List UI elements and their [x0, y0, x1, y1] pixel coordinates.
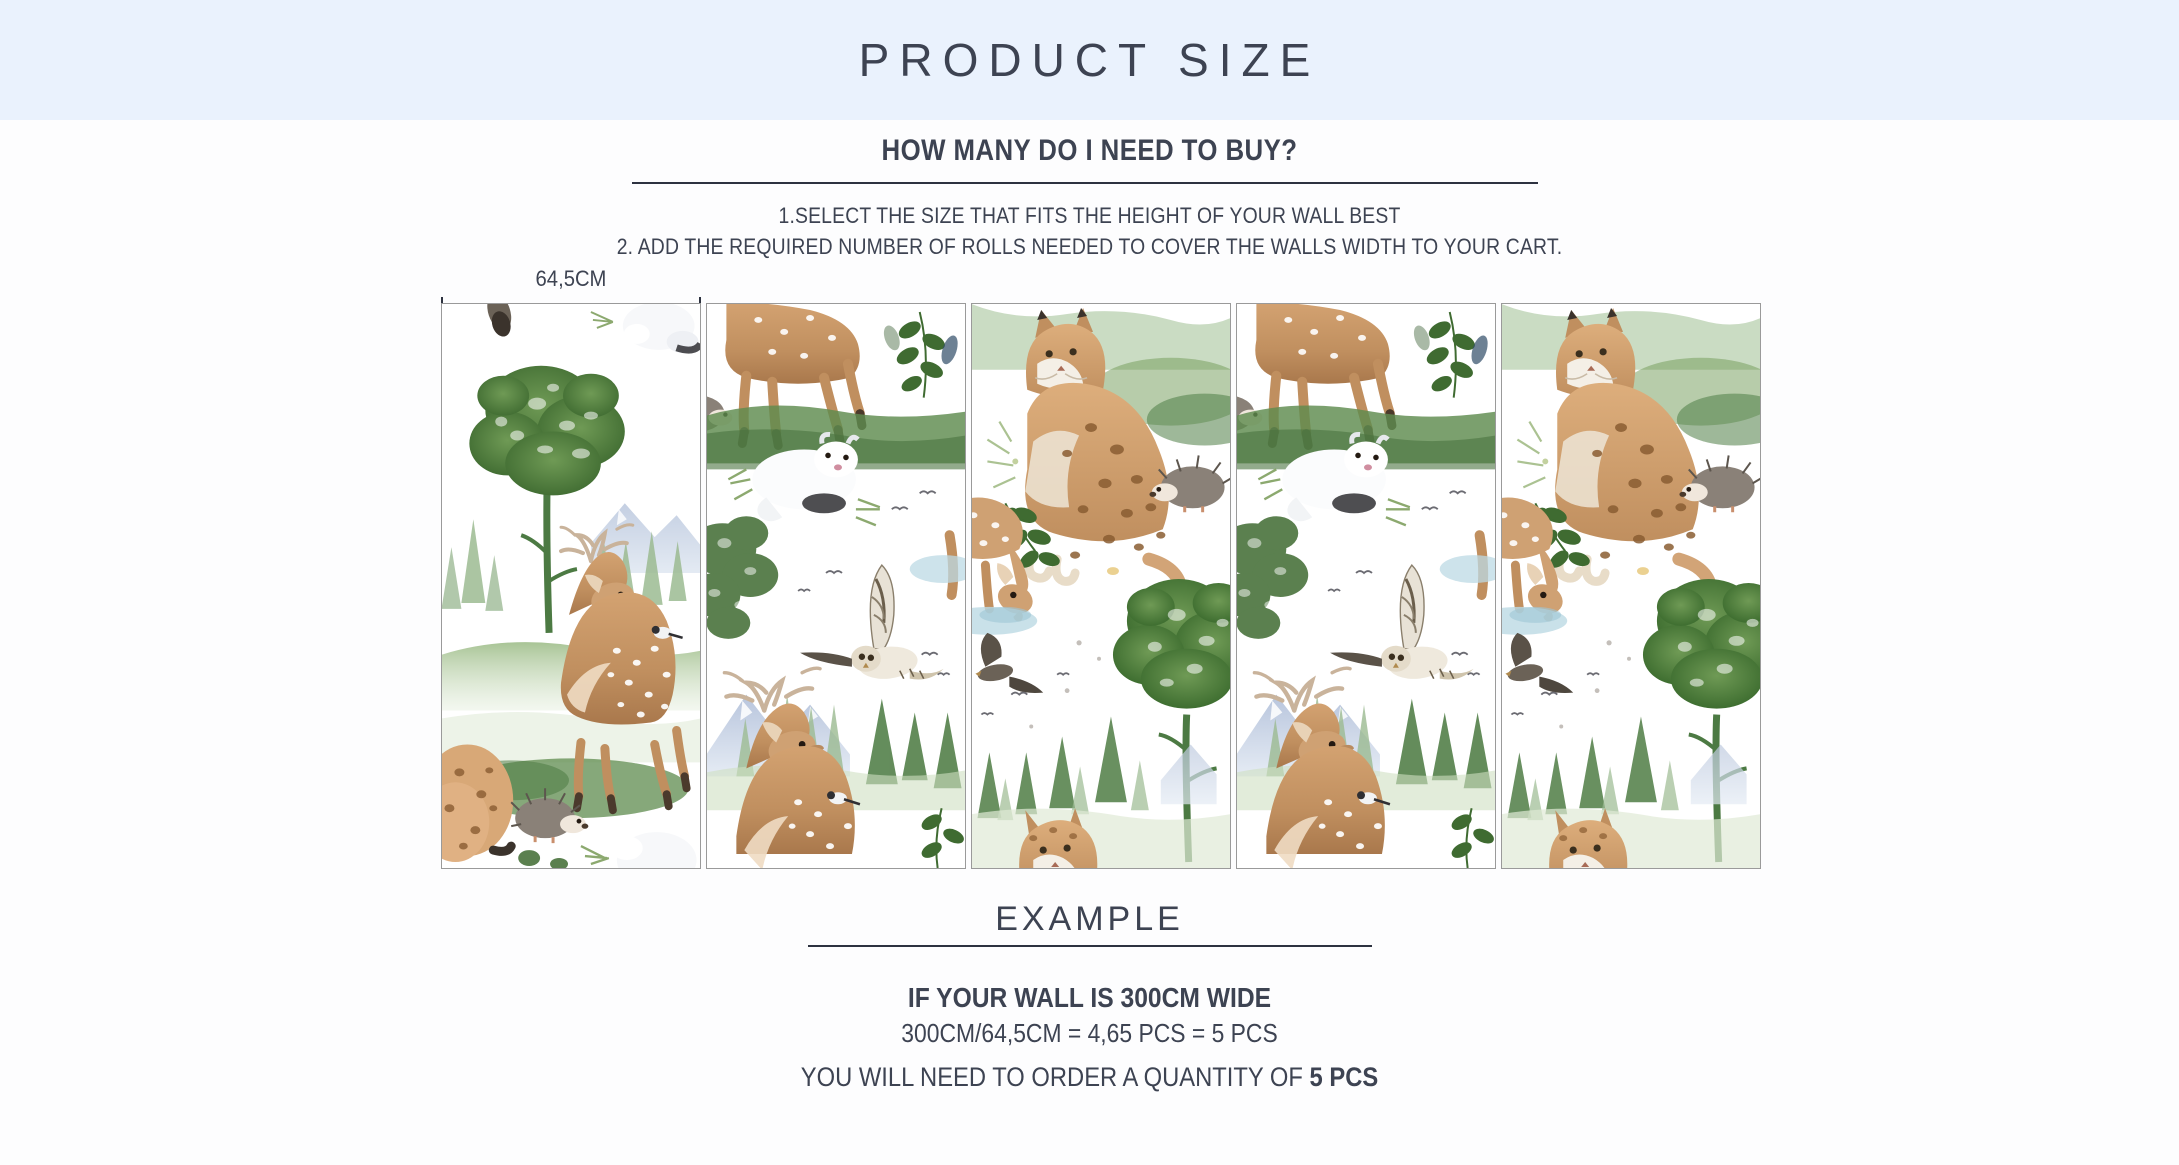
example-line-wall-width: IF YOUR WALL IS 300CM WIDE: [131, 982, 2049, 1014]
divider-example: [808, 945, 1372, 947]
wallpaper-pattern-b: [707, 304, 965, 868]
wallpaper-panel[interactable]: [1501, 303, 1761, 869]
instruction-step-2: 2. ADD THE REQUIRED NUMBER OF ROLLS NEED…: [131, 234, 2049, 260]
wallpaper-pattern-a: [442, 304, 700, 868]
instruction-step-1: 1.SELECT THE SIZE THAT FITS THE HEIGHT O…: [131, 203, 2049, 229]
instructions-heading: HOW MANY DO I NEED TO BUY?: [153, 134, 2027, 168]
dimension-label: 64,5CM: [451, 266, 690, 292]
wallpaper-panel[interactable]: [1236, 303, 1496, 869]
wallpaper-panel[interactable]: [706, 303, 966, 869]
divider-instructions: [632, 182, 1538, 184]
wallpaper-panel-strip: [441, 303, 1761, 869]
wallpaper-pattern-c: [1502, 304, 1760, 868]
page-title: PRODUCT SIZE: [859, 33, 1321, 87]
example-order-prefix: YOU WILL NEED TO ORDER A QUANTITY OF: [801, 1062, 1310, 1092]
header-band: PRODUCT SIZE: [0, 0, 2179, 120]
wallpaper-pattern-c: [972, 304, 1230, 868]
example-line-order-quantity: YOU WILL NEED TO ORDER A QUANTITY OF 5 P…: [131, 1062, 2049, 1093]
wallpaper-panel[interactable]: [441, 303, 701, 869]
wallpaper-panel[interactable]: [971, 303, 1231, 869]
wallpaper-pattern-b: [1237, 304, 1495, 868]
example-line-calculation: 300CM/64,5CM = 4,65 PCS = 5 PCS: [131, 1018, 2049, 1049]
example-title: EXAMPLE: [0, 900, 2179, 939]
example-order-quantity-value: 5 PCS: [1310, 1062, 1379, 1092]
